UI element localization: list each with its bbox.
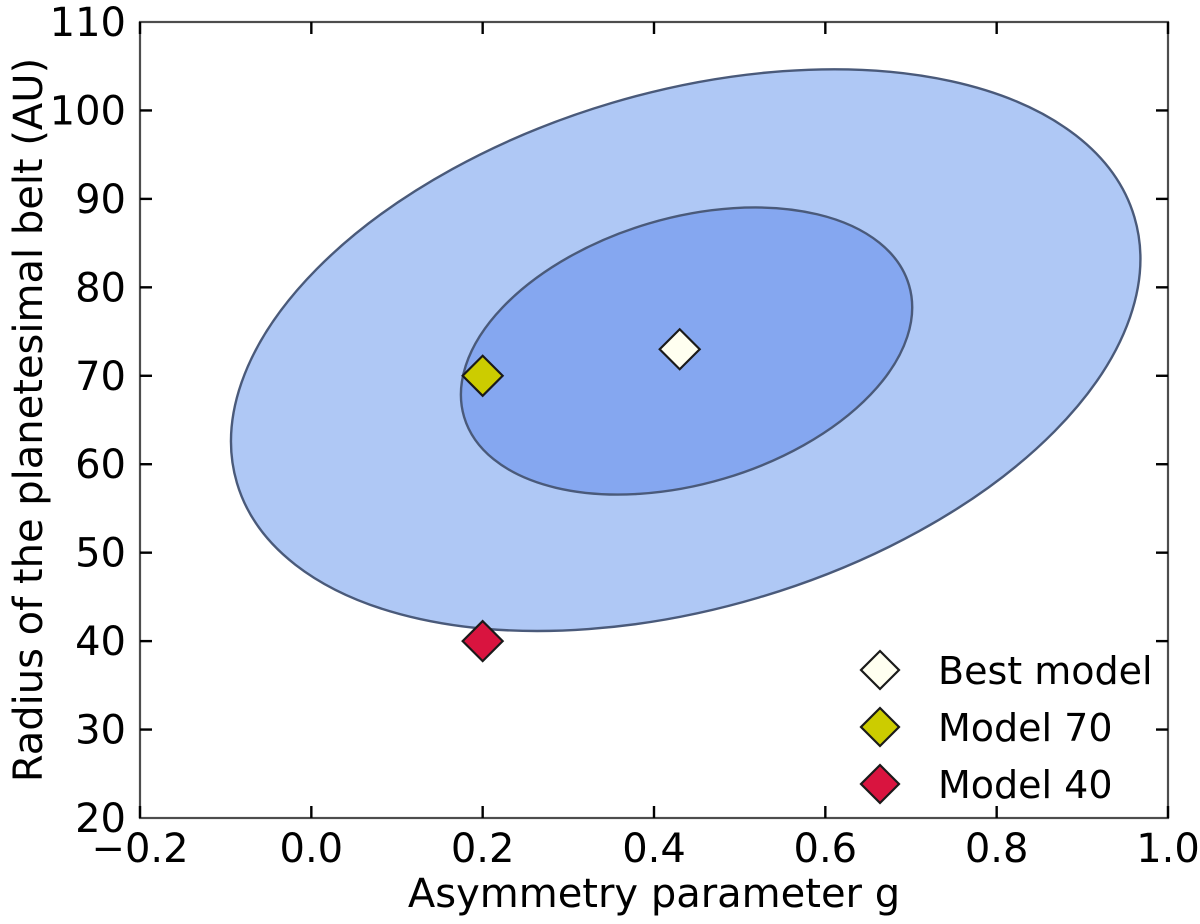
y-tick-label: 50 — [75, 531, 126, 577]
x-tick-label: 0.4 — [622, 826, 686, 872]
x-tick-label: 1.0 — [1136, 826, 1200, 872]
scatter-plot: −0.20.00.20.40.60.81.0 20304050607080901… — [0, 0, 1200, 924]
y-tick-label: 30 — [75, 708, 126, 754]
y-tick-label: 20 — [75, 796, 126, 842]
figure-canvas: −0.20.00.20.40.60.81.0 20304050607080901… — [0, 0, 1200, 924]
y-axis-tick-labels: 2030405060708090100110 — [50, 0, 126, 842]
x-tick-label: 0.0 — [280, 826, 344, 872]
y-tick-label: 80 — [75, 265, 126, 311]
x-tick-label: 0.2 — [451, 826, 515, 872]
y-tick-label: 100 — [50, 88, 126, 134]
x-tick-label: 0.8 — [965, 826, 1029, 872]
legend-label-best-model: Best model — [938, 649, 1153, 693]
legend-label-model-40: Model 40 — [938, 763, 1113, 807]
x-axis-title: Asymmetry parameter g — [408, 871, 900, 917]
y-tick-label: 110 — [50, 0, 126, 46]
x-axis-tick-labels: −0.20.00.20.40.60.81.0 — [91, 826, 1199, 872]
y-tick-label: 60 — [75, 442, 126, 488]
x-tick-label: 0.6 — [794, 826, 858, 872]
y-tick-label: 70 — [75, 354, 126, 400]
y-tick-label: 40 — [75, 619, 126, 665]
legend-label-model-70: Model 70 — [938, 706, 1113, 750]
y-tick-label: 90 — [75, 177, 126, 223]
y-axis-title: Radius of the planetesimal belt (AU) — [6, 58, 52, 782]
